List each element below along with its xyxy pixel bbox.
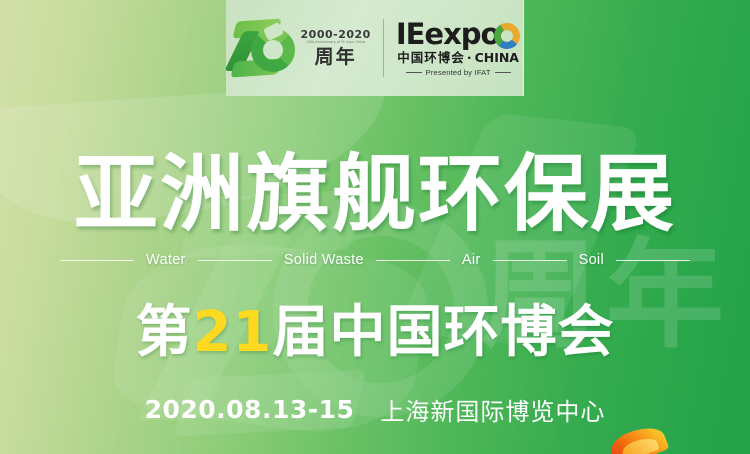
pillar-rule-1 xyxy=(198,260,272,261)
pillar-rule-4 xyxy=(616,260,690,261)
ieexpo-wordmark: IEexpo xyxy=(396,20,500,49)
ieexpo-cjk-row: 中国环博会·CHINA xyxy=(396,52,521,65)
logo-panel-divider xyxy=(383,19,384,77)
ieexpo-region-label: CHINA xyxy=(475,50,519,65)
anniversary-20-mark-icon xyxy=(233,19,295,77)
anniversary-years: 2000-2020 xyxy=(301,29,371,40)
pillar-water: Water xyxy=(134,252,198,268)
anniversary-lockup: 2000-2020 20th Anniversary of IE expo Ch… xyxy=(229,19,371,77)
presented-rule-left xyxy=(406,72,422,73)
presented-by-label: Presented by IFAT xyxy=(426,69,491,77)
footer-info: 2020.08.13-15 上海新国际博览中心 xyxy=(0,392,750,427)
hero-subhead: 第21届中国环博会 xyxy=(0,305,750,361)
logo-panel: 2000-2020 20th Anniversary of IE expo Ch… xyxy=(226,0,524,96)
ieexpo-lockup: IEexpo 中国环博会·CHINA Presented by IFAT xyxy=(396,20,521,76)
pillars-row: Water Solid Waste Air Soil xyxy=(60,252,690,268)
pillar-air: Air xyxy=(450,252,493,268)
anniversary-cjk-label: 周年 xyxy=(301,48,371,67)
pillar-solid-waste: Solid Waste xyxy=(272,252,376,268)
swirl-blue-arc xyxy=(493,21,522,50)
pillar-rule-2 xyxy=(376,260,450,261)
event-date: 2020.08.13-15 xyxy=(145,395,355,424)
ieexpo-cjk-label: 中国环博会 xyxy=(397,50,465,65)
anniversary-subline: 20th Anniversary of IE expo China xyxy=(302,41,369,44)
ieexpo-wordmark-row: IEexpo xyxy=(396,20,521,49)
hero-headline: 亚洲旗舰环保展 xyxy=(0,152,750,236)
subhead-prefix: 第 xyxy=(136,300,193,365)
presented-rule-right xyxy=(495,72,511,73)
pillar-rule-3 xyxy=(493,260,567,261)
poster-root: 周年 2000-2020 20th Anniversary of IE expo… xyxy=(0,0,750,454)
ieexpo-presented-row: Presented by IFAT xyxy=(396,69,521,77)
ieexpo-separator: · xyxy=(467,50,473,65)
pillar-rule-0 xyxy=(60,260,134,261)
anniversary-text-block: 2000-2020 20th Anniversary of IE expo Ch… xyxy=(301,29,371,66)
pillar-soil: Soil xyxy=(567,252,616,268)
subhead-suffix: 届中国环博会 xyxy=(272,300,614,365)
subhead-edition-number: 21 xyxy=(193,300,273,365)
ieexpo-swirl-icon xyxy=(494,23,520,49)
event-venue: 上海新国际博览中心 xyxy=(380,392,605,427)
